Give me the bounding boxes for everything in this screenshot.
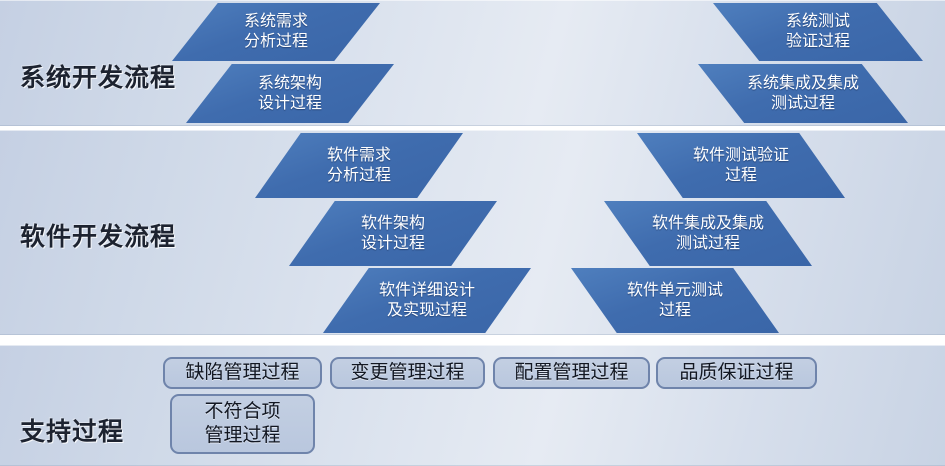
band-label-system-development: 系统开发流程	[20, 58, 176, 94]
process-label: 软件架构 设计过程	[355, 214, 431, 253]
band-label-support-processes: 支持过程	[20, 412, 124, 448]
band-label-software-development: 软件开发流程	[20, 217, 176, 253]
process-label: 系统架构 设计过程	[252, 74, 328, 113]
process-label: 系统集成及集成 测试过程	[741, 74, 865, 113]
process-label: 软件详细设计 及实现过程	[373, 281, 481, 320]
process-label: 软件测试验证 过程	[687, 146, 795, 185]
process-label: 软件单元测试 过程	[621, 281, 729, 320]
chip-defect-management-process[interactable]: 缺陷管理过程	[163, 357, 322, 389]
chip-label: 变更管理过程	[350, 361, 464, 385]
chip-label: 不符合项 管理过程	[204, 400, 280, 448]
process-label: 软件集成及集成 测试过程	[646, 214, 770, 253]
chip-change-management-process[interactable]: 变更管理过程	[330, 357, 485, 389]
chip-quality-assurance-process[interactable]: 品质保证过程	[656, 357, 817, 389]
chip-label: 配置管理过程	[514, 361, 628, 385]
chip-label: 品质保证过程	[679, 361, 793, 385]
chip-configuration-management-process[interactable]: 配置管理过程	[493, 357, 650, 389]
process-label: 系统测试 验证过程	[780, 12, 856, 51]
v-model-diagram: 系统开发流程 系统需求 分析过程 系统架构 设计过程 系统测试 验证过程 系统集…	[0, 0, 945, 466]
chip-nonconformance-management-process[interactable]: 不符合项 管理过程	[170, 394, 315, 454]
process-label: 软件需求 分析过程	[321, 146, 397, 185]
process-label: 系统需求 分析过程	[238, 12, 314, 51]
chip-label: 缺陷管理过程	[185, 361, 299, 385]
